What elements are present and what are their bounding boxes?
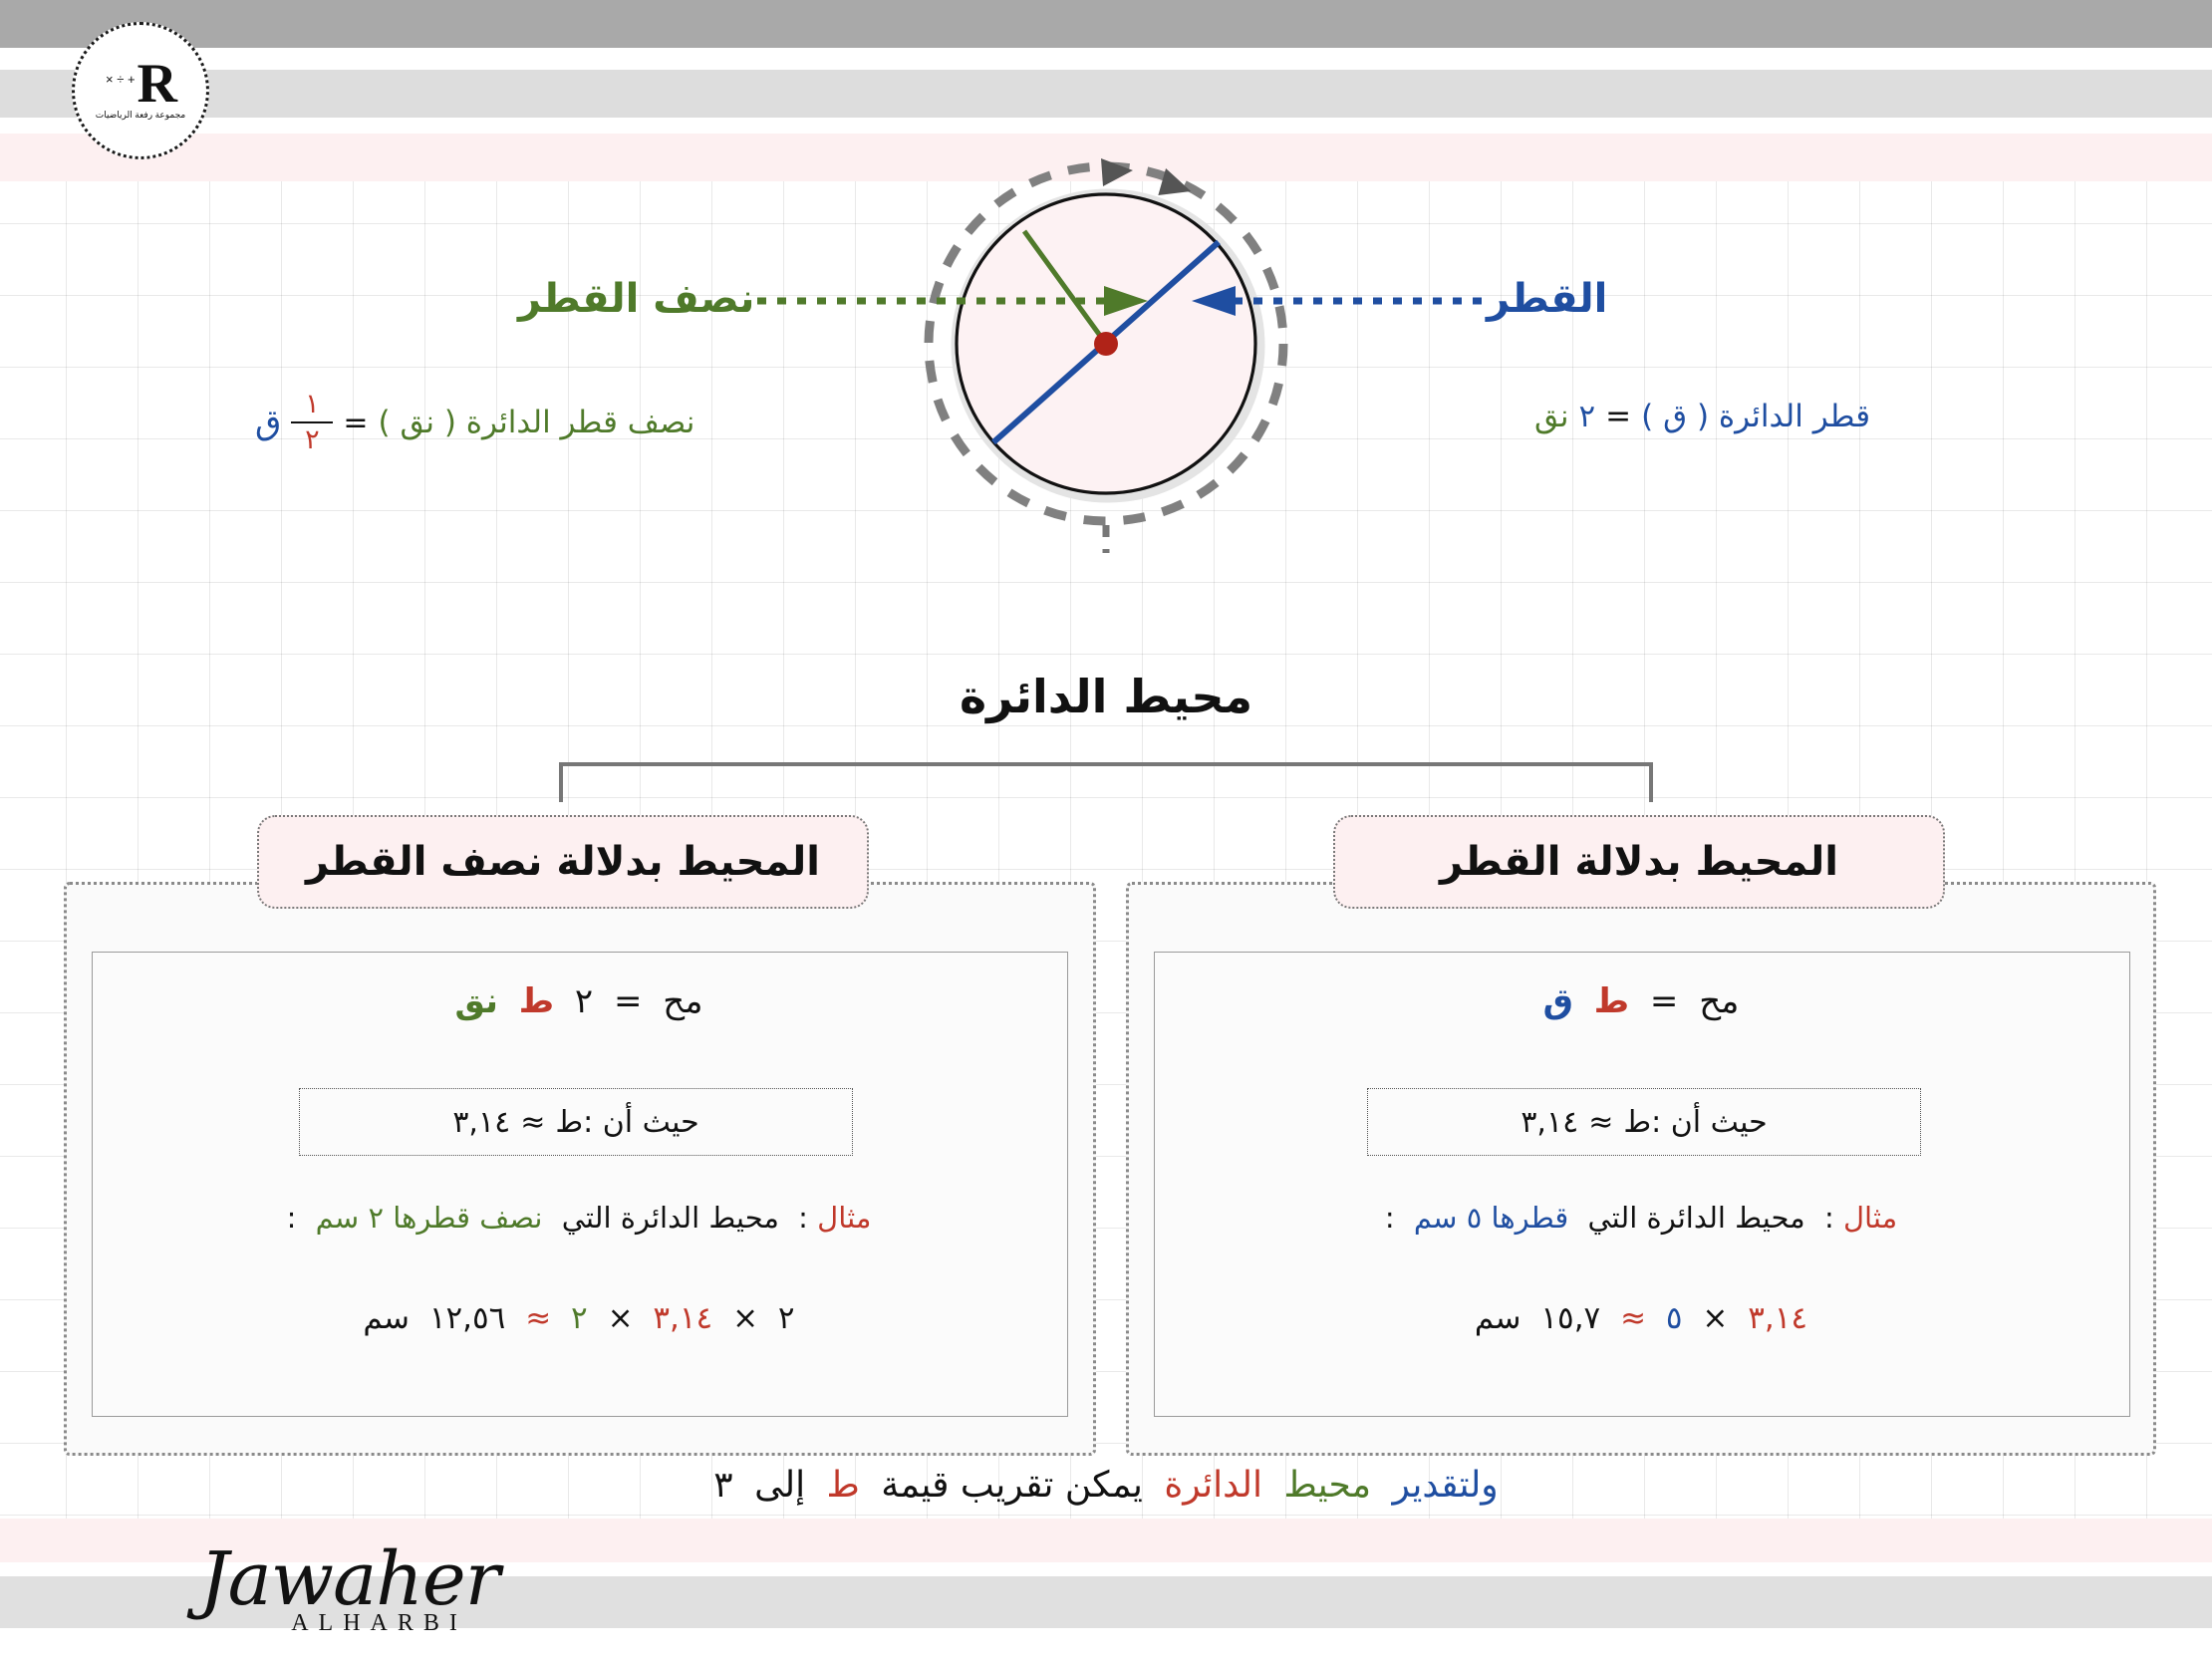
logo-math-marks-icon: + ÷ × — [106, 73, 136, 86]
signature-first-name: Jawaher — [199, 1542, 499, 1616]
right-formula-variable: ق — [1543, 981, 1573, 1021]
radius-leader — [757, 281, 1176, 321]
right-formula-pi: ط — [1594, 981, 1629, 1021]
logo-row: R + ÷ × — [106, 61, 175, 109]
diameter-formula-text: قطر الدائرة ( ق ) — [1641, 399, 1870, 434]
right-formula: مح = ط ق — [1154, 981, 2128, 1021]
right-calc-approx: ≈ — [1620, 1300, 1646, 1336]
left-calc-approx: ≈ — [525, 1300, 551, 1336]
left-formula-variable: نق — [455, 981, 498, 1021]
right-example-value: قطرها ٥ سم — [1414, 1201, 1568, 1235]
author-signature: Jawaher ALHARBI — [199, 1542, 499, 1637]
right-branch-header: المحيط بدلالة القطر — [1333, 815, 1945, 909]
right-note-value: ٣,١٤ — [1521, 1105, 1578, 1140]
footer-part-2: محيط — [1283, 1465, 1371, 1506]
left-example-value: نصف قطرها ٢ سم — [316, 1201, 543, 1235]
left-example-colon: : — [798, 1201, 808, 1235]
left-formula-lhs: مح — [663, 981, 702, 1021]
right-example-trailing: : — [1385, 1201, 1395, 1235]
left-note-pi: ط — [555, 1105, 583, 1140]
left-branch-header: المحيط بدلالة نصف القطر — [257, 815, 869, 909]
right-branch-inner-box — [1154, 952, 2130, 1417]
diameter-leader-arrow-icon — [1192, 286, 1236, 316]
header-band-white-1 — [0, 48, 2212, 70]
diameter-formula: قطر الدائرة ( ق ) = ٢ نق — [1534, 399, 1870, 434]
right-example-text: محيط الدائرة التي — [1587, 1201, 1804, 1235]
right-calc-factor1: ٥ — [1666, 1300, 1683, 1336]
left-pi-note: حيث أن : ط ≈ ٣,١٤ — [299, 1088, 853, 1156]
footer-part-6: إلى — [754, 1465, 805, 1506]
left-formula-coefficient: ٢ — [575, 981, 593, 1021]
left-calc-result: ١٢,٥٦ — [429, 1300, 505, 1336]
footer-note: ولتقدير محيط الدائرة يمكن تقريب قيمة ط إ… — [713, 1465, 1498, 1506]
page-title: محيط الدائرة — [960, 670, 1252, 723]
left-branch-inner-box — [92, 952, 1068, 1417]
left-example-text: محيط الدائرة التي — [562, 1201, 779, 1235]
radius-formula-equals: = — [343, 406, 368, 440]
brand-logo-badge: R + ÷ × مجموعة رفعة الرياضيات — [72, 22, 209, 159]
right-example: مثال : محيط الدائرة التي قطرها ٥ سم : — [1154, 1201, 2128, 1235]
header-band-gray — [0, 0, 2212, 48]
center-point-dot — [1094, 332, 1118, 356]
fraction-bar — [291, 421, 333, 423]
left-calc-factor1: ٢ — [778, 1300, 795, 1336]
right-calc-times1: × — [1702, 1300, 1728, 1336]
footer-part-7: ٣ — [713, 1465, 732, 1506]
right-formula-equals: = — [1650, 981, 1679, 1021]
left-example-trailing: : — [287, 1201, 297, 1235]
left-calculation: ٢ × ٣,١٤ × ٢ ≈ ١٢,٥٦ سم — [92, 1300, 1066, 1336]
logo-letter: R — [138, 61, 175, 109]
right-example-colon: : — [1824, 1201, 1834, 1235]
footer-part-1: ولتقدير — [1392, 1465, 1498, 1506]
right-pi-note: حيث أن : ط ≈ ٣,١٤ — [1367, 1088, 1921, 1156]
header-band-white-2 — [0, 118, 2212, 134]
radius-formula: نصف قطر الدائرة ( نق ) = ١ ٢ ق — [255, 391, 694, 455]
left-note-approx: ≈ — [520, 1105, 545, 1140]
diameter-formula-variable: نق — [1534, 399, 1568, 434]
left-note-value: ٣,١٤ — [452, 1105, 510, 1140]
right-formula-lhs: مح — [1699, 981, 1739, 1021]
left-calc-unit: سم — [363, 1300, 410, 1336]
radius-leader-arrow-icon — [1104, 286, 1148, 316]
left-formula: مح = ٢ ط نق — [92, 981, 1066, 1021]
right-calc-result: ١٥,٧ — [1540, 1300, 1600, 1336]
header-band-gray-light — [0, 70, 2212, 118]
left-calc-factor2: ٢ — [571, 1300, 588, 1336]
right-calc-unit: سم — [1475, 1300, 1521, 1336]
right-calculation: ٣,١٤ × ٥ ≈ ١٥,٧ سم — [1154, 1300, 2128, 1336]
footer-part-5: ط — [827, 1465, 860, 1506]
circle-diagram — [897, 135, 1315, 553]
right-note-pi: ط — [1623, 1105, 1651, 1140]
diameter-formula-equals: = — [1605, 399, 1631, 434]
connector-bracket — [561, 764, 1651, 802]
radius-label: نصف القطر — [518, 276, 754, 322]
diameter-leader — [1186, 281, 1485, 321]
radius-formula-fraction: ١ ٢ — [291, 391, 333, 455]
left-formula-pi: ط — [519, 981, 554, 1021]
footer-part-4: يمكن تقريب قيمة — [881, 1465, 1143, 1506]
logo-subtitle: مجموعة رفعة الرياضيات — [96, 110, 186, 121]
left-calc-pi-value: ٣,١٤ — [653, 1300, 712, 1336]
fraction-numerator: ١ — [299, 391, 326, 418]
left-note-prefix: حيث أن : — [583, 1105, 699, 1140]
left-calc-times1: × — [732, 1300, 758, 1336]
radius-formula-variable: ق — [255, 403, 281, 442]
diameter-formula-coefficient: ٢ — [1578, 399, 1595, 434]
left-calc-times2: × — [608, 1300, 634, 1336]
right-note-approx: ≈ — [1588, 1105, 1613, 1140]
left-formula-equals: = — [614, 981, 643, 1021]
fraction-denominator: ٢ — [299, 426, 326, 454]
radius-formula-text: نصف قطر الدائرة ( نق ) — [379, 405, 695, 440]
left-example: مثال : محيط الدائرة التي نصف قطرها ٢ سم … — [92, 1201, 1066, 1235]
left-example-label: مثال — [817, 1201, 871, 1235]
right-example-label: مثال — [1843, 1201, 1897, 1235]
footer-part-3: الدائرة — [1164, 1465, 1262, 1506]
right-note-prefix: حيث أن : — [1651, 1105, 1768, 1140]
diameter-label: القطر — [1487, 276, 1607, 322]
right-calc-pi-value: ٣,١٤ — [1748, 1300, 1807, 1336]
